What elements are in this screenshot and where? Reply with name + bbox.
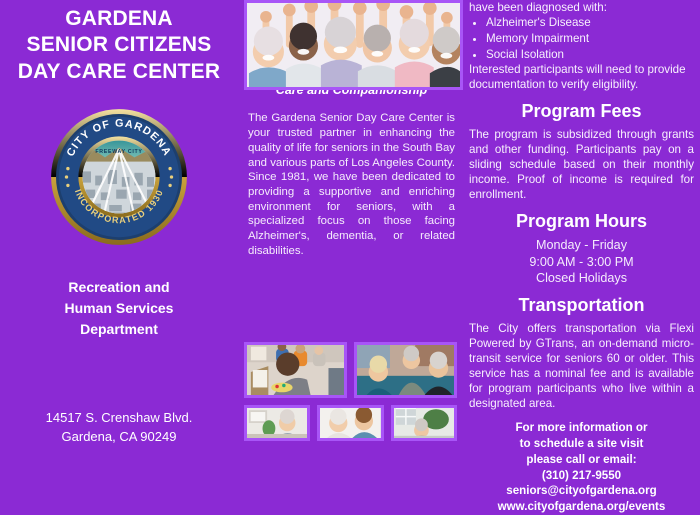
program-hours-days: Monday - Friday — [469, 237, 694, 253]
contact-phone[interactable]: (310) 217-9550 — [469, 468, 694, 484]
eligibility-list: Alzheimer's Disease Memory Impairment So… — [469, 15, 694, 62]
dept-line-3: Department — [0, 319, 238, 340]
contact-line-2: to schedule a site visit — [469, 436, 694, 452]
photo-seniors-socializing — [354, 342, 457, 398]
transportation-heading: Transportation — [469, 295, 694, 316]
about-paragraph: The Gardena Senior Day Care Center is yo… — [248, 111, 455, 258]
left-column: GARDENA SENIOR CITIZENS DAY CARE CENTER — [0, 0, 238, 441]
contact-block: For more information or to schedule a si… — [469, 420, 694, 515]
photo-grid-row-1 — [244, 342, 457, 398]
program-fees-body: The program is subsidized through grants… — [469, 127, 694, 202]
contact-website[interactable]: www.cityofgardena.org/events — [469, 499, 694, 515]
street-address: 14517 S. Crenshaw Blvd. Gardena, CA 9024… — [0, 409, 238, 447]
photo-grid — [244, 335, 457, 441]
middle-column: Welcome to the Gardena Senior Day Care C… — [238, 0, 463, 441]
program-fees-heading: Program Fees — [469, 101, 694, 122]
contact-line-3: please call or email: — [469, 452, 694, 468]
department-name: Recreation and Human Services Department — [0, 277, 238, 340]
flyer-title: GARDENA SENIOR CITIZENS DAY CARE CENTER — [0, 0, 238, 85]
flyer-page: GARDENA SENIOR CITIZENS DAY CARE CENTER — [0, 0, 700, 441]
photo-grid-row-2 — [244, 405, 457, 441]
photo-art-class — [244, 342, 347, 398]
city-of-gardena-seal-icon: CITY OF GARDENA INCORPORATED 1930 FREEWA… — [49, 107, 189, 247]
program-hours-time: 9:00 AM - 3:00 PM — [469, 254, 694, 270]
title-line-3: DAY CARE CENTER — [8, 59, 230, 85]
dept-line-2: Human Services — [0, 298, 238, 319]
eligibility-item-social-isolation: Social Isolation — [486, 47, 694, 63]
photo-seniors-by-window — [391, 405, 457, 441]
city-seal-container: CITY OF GARDENA INCORPORATED 1930 FREEWA… — [0, 107, 238, 247]
program-hours-holidays: Closed Holidays — [469, 270, 694, 286]
eligibility-item-memory-impairment: Memory Impairment — [486, 31, 694, 47]
contact-line-1: For more information or — [469, 420, 694, 436]
hero-photo-seniors-celebrating — [244, 0, 463, 90]
title-line-1: GARDENA — [8, 6, 230, 32]
eligibility-lead: have been diagnosed with: — [469, 0, 694, 15]
svg-text:FREEWAY CITY: FREEWAY CITY — [95, 150, 142, 156]
address-line-1: 14517 S. Crenshaw Blvd. — [0, 409, 238, 428]
address-line-2: Gardena, CA 90249 — [0, 428, 238, 447]
photo-senior-activity-room — [244, 405, 310, 441]
program-hours-heading: Program Hours — [469, 211, 694, 232]
photo-senior-with-caregiver — [317, 405, 383, 441]
transportation-body: The City offers transportation via Flexi… — [469, 321, 694, 411]
eligibility-item-alzheimers: Alzheimer's Disease — [486, 15, 694, 31]
dept-line-1: Recreation and — [0, 277, 238, 298]
eligibility-documentation-note: Interested participants will need to pro… — [469, 62, 694, 92]
title-line-2: SENIOR CITIZENS — [8, 32, 230, 58]
right-column: must be able to prospective participants… — [463, 0, 700, 441]
contact-email[interactable]: seniors@cityofgardena.org — [469, 483, 694, 499]
